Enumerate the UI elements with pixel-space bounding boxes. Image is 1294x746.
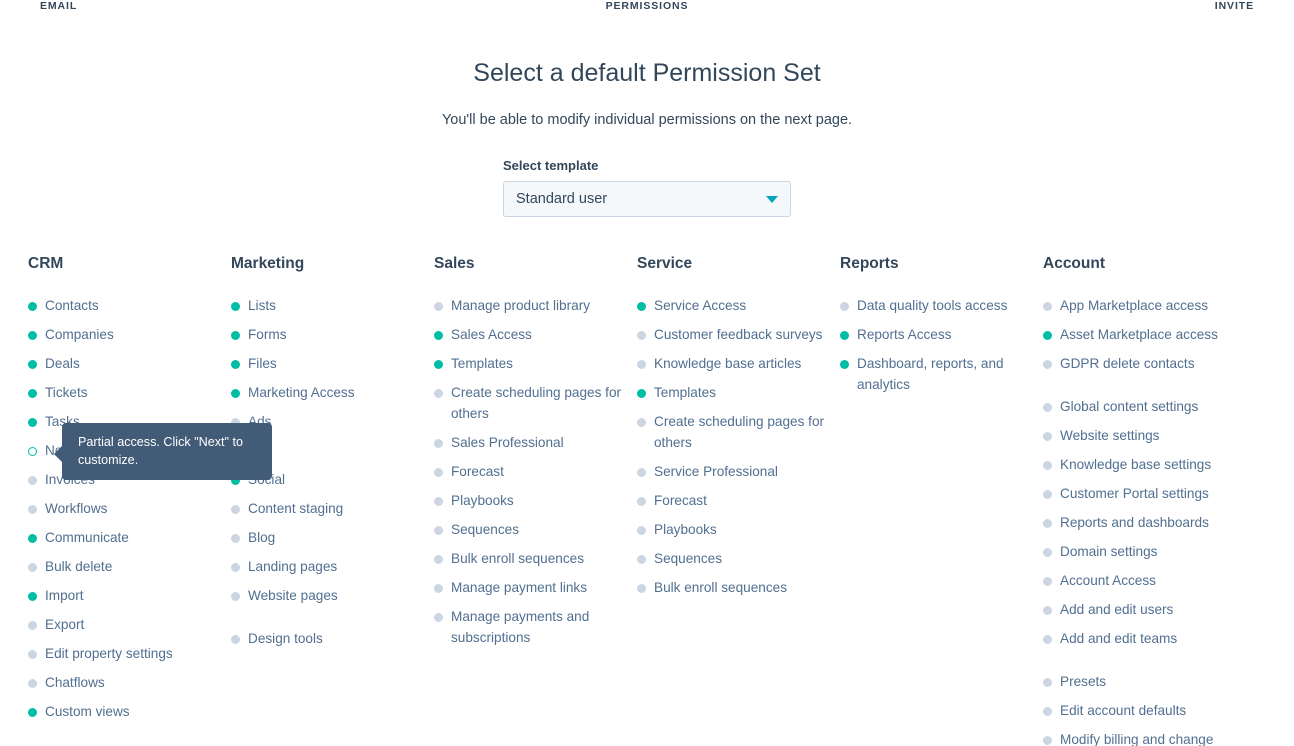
denied-dot-icon bbox=[1043, 490, 1052, 499]
denied-dot-icon bbox=[637, 360, 646, 369]
permission-item[interactable]: Dashboard, reports, and analytics bbox=[840, 353, 1043, 395]
permission-label: Bulk enroll sequences bbox=[451, 551, 584, 566]
permission-item[interactable]: Data quality tools access bbox=[840, 295, 1043, 316]
denied-dot-icon bbox=[28, 679, 37, 688]
permission-item[interactable]: Knowledge base articles bbox=[637, 353, 840, 374]
permission-item[interactable]: Workflows bbox=[28, 498, 231, 519]
page-subtitle: You'll be able to modify individual perm… bbox=[0, 110, 1294, 130]
permission-label: Service Professional bbox=[654, 464, 778, 479]
permission-label: Manage product library bbox=[451, 298, 590, 313]
permission-label: Sales Access bbox=[451, 327, 532, 342]
permission-item[interactable]: Contacts bbox=[28, 295, 231, 316]
permission-item[interactable]: Add and edit users bbox=[1043, 599, 1269, 620]
denied-dot-icon bbox=[637, 418, 646, 427]
permission-item[interactable]: Create scheduling pages for others bbox=[434, 382, 637, 424]
denied-dot-icon bbox=[1043, 606, 1052, 615]
permission-column-account: AccountApp Marketplace accessAsset Marke… bbox=[1043, 255, 1269, 746]
permission-label: Customer feedback surveys bbox=[654, 327, 822, 342]
permission-label: Forms bbox=[248, 327, 287, 342]
granted-dot-icon bbox=[434, 360, 443, 369]
permission-item[interactable]: Modify billing and change bbox=[1043, 729, 1269, 746]
permission-columns: CRMContactsCompaniesDealsTicketsTasksNot… bbox=[0, 255, 1294, 746]
permission-item[interactable]: Presets bbox=[1043, 671, 1269, 692]
denied-dot-icon bbox=[1043, 736, 1052, 745]
permission-item[interactable]: Chatflows bbox=[28, 672, 231, 693]
permission-label: Presets bbox=[1060, 674, 1106, 689]
permission-label: Sequences bbox=[451, 522, 519, 537]
permission-item[interactable]: Edit account defaults bbox=[1043, 700, 1269, 721]
permission-item[interactable]: Deals bbox=[28, 353, 231, 374]
template-select[interactable]: Standard user bbox=[503, 181, 791, 217]
permission-label: Workflows bbox=[45, 501, 107, 516]
permission-label: Data quality tools access bbox=[857, 298, 1007, 313]
denied-dot-icon bbox=[231, 635, 240, 644]
permission-item[interactable]: Playbooks bbox=[637, 519, 840, 540]
permission-label: GDPR delete contacts bbox=[1060, 356, 1195, 371]
denied-dot-icon bbox=[434, 555, 443, 564]
permission-label: Bulk delete bbox=[45, 559, 112, 574]
template-select-group: Select template Standard user bbox=[503, 158, 791, 217]
page-title: Select a default Permission Set bbox=[0, 58, 1294, 88]
granted-dot-icon bbox=[28, 360, 37, 369]
permission-label: Manage payment links bbox=[451, 580, 587, 595]
denied-dot-icon bbox=[231, 534, 240, 543]
granted-dot-icon bbox=[28, 331, 37, 340]
permission-list: ContactsCompaniesDealsTicketsTasksNotesI… bbox=[28, 295, 231, 722]
permission-item[interactable]: Forecast bbox=[637, 490, 840, 511]
permission-item[interactable]: Manage payments and subscriptions bbox=[434, 606, 637, 648]
permission-label: Edit account defaults bbox=[1060, 703, 1186, 718]
template-select-value: Standard user bbox=[516, 191, 607, 207]
template-select-label: Select template bbox=[503, 158, 791, 173]
denied-dot-icon bbox=[434, 439, 443, 448]
permission-column-sales: SalesManage product librarySales AccessT… bbox=[434, 255, 637, 746]
denied-dot-icon bbox=[637, 555, 646, 564]
denied-dot-icon bbox=[434, 468, 443, 477]
denied-dot-icon bbox=[231, 592, 240, 601]
permission-item[interactable]: Account Access bbox=[1043, 570, 1269, 591]
permission-item[interactable]: Sales Professional bbox=[434, 432, 637, 453]
page-header: Select a default Permission Set You'll b… bbox=[0, 14, 1294, 130]
permission-label: Modify billing and change bbox=[1060, 732, 1213, 746]
denied-dot-icon bbox=[1043, 403, 1052, 412]
denied-dot-icon bbox=[434, 584, 443, 593]
permission-label: Contacts bbox=[45, 298, 99, 313]
permission-label: Deals bbox=[45, 356, 80, 371]
permission-label: Reports and dashboards bbox=[1060, 515, 1209, 530]
permission-label: Service Access bbox=[654, 298, 746, 313]
permission-label: Forecast bbox=[451, 464, 504, 479]
permission-item[interactable]: Manage product library bbox=[434, 295, 637, 316]
denied-dot-icon bbox=[637, 526, 646, 535]
denied-dot-icon bbox=[637, 468, 646, 477]
permission-item[interactable]: Forecast bbox=[434, 461, 637, 482]
column-title: CRM bbox=[28, 255, 231, 273]
permission-item[interactable]: Knowledge base settings bbox=[1043, 454, 1269, 475]
permission-item[interactable]: Edit property settings bbox=[28, 643, 231, 664]
permission-item[interactable]: Service Access bbox=[637, 295, 840, 316]
permission-label: Lists bbox=[248, 298, 276, 313]
permission-item[interactable]: Bulk enroll sequences bbox=[637, 577, 840, 598]
denied-dot-icon bbox=[637, 584, 646, 593]
denied-dot-icon bbox=[1043, 635, 1052, 644]
permission-list: Service AccessCustomer feedback surveysK… bbox=[637, 295, 840, 598]
column-title: Reports bbox=[840, 255, 1043, 273]
permission-item[interactable]: Content staging bbox=[231, 498, 434, 519]
permission-label: Custom views bbox=[45, 704, 130, 719]
permission-label: Knowledge base settings bbox=[1060, 457, 1211, 472]
granted-dot-icon bbox=[434, 331, 443, 340]
granted-dot-icon bbox=[1043, 331, 1052, 340]
denied-dot-icon bbox=[1043, 678, 1052, 687]
permission-label: Website settings bbox=[1060, 428, 1159, 443]
permission-item[interactable]: Companies bbox=[28, 324, 231, 345]
granted-dot-icon bbox=[231, 302, 240, 311]
granted-dot-icon bbox=[28, 534, 37, 543]
permission-item[interactable]: Global content settings bbox=[1043, 396, 1269, 417]
denied-dot-icon bbox=[434, 613, 443, 622]
permission-label: Blog bbox=[248, 530, 275, 545]
wizard-stepper: EMAIL PERMISSIONS INVITE bbox=[0, 0, 1294, 14]
permission-label: Create scheduling pages for others bbox=[654, 414, 824, 450]
permission-label: App Marketplace access bbox=[1060, 298, 1208, 313]
permission-label: Domain settings bbox=[1060, 544, 1157, 559]
permission-item[interactable]: Customer Portal settings bbox=[1043, 483, 1269, 504]
granted-dot-icon bbox=[28, 592, 37, 601]
denied-dot-icon bbox=[231, 505, 240, 514]
permission-label: Forecast bbox=[654, 493, 707, 508]
permission-label: Export bbox=[45, 617, 84, 632]
denied-dot-icon bbox=[434, 389, 443, 398]
permission-label: Account Access bbox=[1060, 573, 1156, 588]
granted-dot-icon bbox=[231, 331, 240, 340]
denied-dot-icon bbox=[1043, 302, 1052, 311]
permission-item[interactable]: Templates bbox=[637, 382, 840, 403]
tooltip-text: Partial access. Click "Next" to customiz… bbox=[78, 435, 243, 467]
permission-item[interactable]: Sequences bbox=[637, 548, 840, 569]
column-title: Service bbox=[637, 255, 840, 273]
permission-label: Templates bbox=[451, 356, 513, 371]
granted-dot-icon bbox=[637, 302, 646, 311]
permission-item[interactable]: Blog bbox=[231, 527, 434, 548]
denied-dot-icon bbox=[28, 650, 37, 659]
granted-dot-icon bbox=[28, 389, 37, 398]
permission-item[interactable]: Reports Access bbox=[840, 324, 1043, 345]
denied-dot-icon bbox=[1043, 707, 1052, 716]
denied-dot-icon bbox=[1043, 360, 1052, 369]
denied-dot-icon bbox=[28, 621, 37, 630]
permission-label: Global content settings bbox=[1060, 399, 1198, 414]
permission-label: Knowledge base articles bbox=[654, 356, 801, 371]
permission-label: Playbooks bbox=[451, 493, 514, 508]
permission-label: Add and edit users bbox=[1060, 602, 1173, 617]
permission-item[interactable]: Files bbox=[231, 353, 434, 374]
permission-label: Templates bbox=[654, 385, 716, 400]
permission-label: Reports Access bbox=[857, 327, 951, 342]
column-title: Account bbox=[1043, 255, 1269, 273]
denied-dot-icon bbox=[28, 505, 37, 514]
permission-item[interactable]: Website pages bbox=[231, 585, 434, 606]
permission-item[interactable]: App Marketplace access bbox=[1043, 295, 1269, 316]
permission-label: Add and edit teams bbox=[1060, 631, 1177, 646]
permission-item[interactable]: Tickets bbox=[28, 382, 231, 403]
permission-label: Communicate bbox=[45, 530, 129, 545]
denied-dot-icon bbox=[1043, 461, 1052, 470]
denied-dot-icon bbox=[637, 331, 646, 340]
permission-item[interactable]: Service Professional bbox=[637, 461, 840, 482]
permission-item[interactable]: Create scheduling pages for others bbox=[637, 411, 840, 453]
denied-dot-icon bbox=[637, 497, 646, 506]
permission-label: Playbooks bbox=[654, 522, 717, 537]
step-invite[interactable]: INVITE bbox=[1215, 0, 1254, 12]
column-title: Marketing bbox=[231, 255, 434, 273]
permission-label: Landing pages bbox=[248, 559, 337, 574]
permission-label: Sales Professional bbox=[451, 435, 564, 450]
permission-item[interactable]: Communicate bbox=[28, 527, 231, 548]
step-email[interactable]: EMAIL bbox=[40, 0, 77, 12]
permission-item[interactable]: Marketing Access bbox=[231, 382, 434, 403]
permission-item[interactable]: Sequences bbox=[434, 519, 637, 540]
column-title: Sales bbox=[434, 255, 637, 273]
permission-column-reports: ReportsData quality tools accessReports … bbox=[840, 255, 1043, 746]
permission-column-marketing: MarketingListsFormsFilesMarketing Access… bbox=[231, 255, 434, 746]
permission-label: Bulk enroll sequences bbox=[654, 580, 787, 595]
denied-dot-icon bbox=[1043, 548, 1052, 557]
permission-label: Customer Portal settings bbox=[1060, 486, 1209, 501]
denied-dot-icon bbox=[1043, 432, 1052, 441]
permission-label: Companies bbox=[45, 327, 114, 342]
granted-dot-icon bbox=[840, 360, 849, 369]
permission-item[interactable]: Reports and dashboards bbox=[1043, 512, 1269, 533]
denied-dot-icon bbox=[231, 563, 240, 572]
permission-label: Design tools bbox=[248, 631, 323, 646]
permission-list: Data quality tools accessReports AccessD… bbox=[840, 295, 1043, 395]
granted-dot-icon bbox=[840, 331, 849, 340]
permission-item[interactable]: Design tools bbox=[231, 628, 434, 649]
permission-label: Import bbox=[45, 588, 84, 603]
permission-item[interactable]: Landing pages bbox=[231, 556, 434, 577]
permission-item[interactable]: Bulk delete bbox=[28, 556, 231, 577]
permission-item[interactable]: Bulk enroll sequences bbox=[434, 548, 637, 569]
permission-item[interactable]: Import bbox=[28, 585, 231, 606]
chevron-down-icon bbox=[766, 196, 778, 203]
granted-dot-icon bbox=[28, 418, 37, 427]
permission-list: App Marketplace accessAsset Marketplace … bbox=[1043, 295, 1269, 746]
permission-label: Marketing Access bbox=[248, 385, 355, 400]
denied-dot-icon bbox=[434, 302, 443, 311]
permission-list: Manage product librarySales AccessTempla… bbox=[434, 295, 637, 648]
permission-label: Tickets bbox=[45, 385, 88, 400]
permission-item[interactable]: Domain settings bbox=[1043, 541, 1269, 562]
permission-label: Create scheduling pages for others bbox=[451, 385, 621, 421]
permission-column-crm: CRMContactsCompaniesDealsTicketsTasksNot… bbox=[28, 255, 231, 746]
step-permissions[interactable]: PERMISSIONS bbox=[606, 0, 689, 12]
denied-dot-icon bbox=[434, 526, 443, 535]
denied-dot-icon bbox=[840, 302, 849, 311]
permission-item[interactable]: Website settings bbox=[1043, 425, 1269, 446]
permission-item[interactable]: Custom views bbox=[28, 701, 231, 722]
permission-item[interactable]: Add and edit teams bbox=[1043, 628, 1269, 649]
permission-label: Dashboard, reports, and analytics bbox=[857, 356, 1004, 392]
partial-access-tooltip: Partial access. Click "Next" to customiz… bbox=[62, 423, 272, 480]
permission-item[interactable]: Playbooks bbox=[434, 490, 637, 511]
permission-label: Edit property settings bbox=[45, 646, 173, 661]
permission-column-service: ServiceService AccessCustomer feedback s… bbox=[637, 255, 840, 746]
granted-dot-icon bbox=[637, 389, 646, 398]
permission-item[interactable]: Templates bbox=[434, 353, 637, 374]
permission-item[interactable]: Export bbox=[28, 614, 231, 635]
denied-dot-icon bbox=[28, 563, 37, 572]
granted-dot-icon bbox=[231, 360, 240, 369]
denied-dot-icon bbox=[28, 476, 37, 485]
permission-item[interactable]: Asset Marketplace access bbox=[1043, 324, 1269, 345]
permission-label: Content staging bbox=[248, 501, 343, 516]
granted-dot-icon bbox=[28, 708, 37, 717]
denied-dot-icon bbox=[434, 497, 443, 506]
permission-item[interactable]: Customer feedback surveys bbox=[637, 324, 840, 345]
partial-access-dot-icon bbox=[28, 447, 37, 456]
permission-item[interactable]: Lists bbox=[231, 295, 434, 316]
permission-label: Chatflows bbox=[45, 675, 105, 690]
permission-label: Manage payments and subscriptions bbox=[451, 609, 589, 645]
permission-label: Website pages bbox=[248, 588, 338, 603]
permission-item[interactable]: Forms bbox=[231, 324, 434, 345]
permission-label: Sequences bbox=[654, 551, 722, 566]
permission-label: Asset Marketplace access bbox=[1060, 327, 1218, 342]
denied-dot-icon bbox=[1043, 577, 1052, 586]
permission-item[interactable]: Sales Access bbox=[434, 324, 637, 345]
permission-label: Files bbox=[248, 356, 277, 371]
permission-item[interactable]: Manage payment links bbox=[434, 577, 637, 598]
denied-dot-icon bbox=[1043, 519, 1052, 528]
permission-item[interactable]: GDPR delete contacts bbox=[1043, 353, 1269, 374]
granted-dot-icon bbox=[28, 302, 37, 311]
granted-dot-icon bbox=[231, 389, 240, 398]
